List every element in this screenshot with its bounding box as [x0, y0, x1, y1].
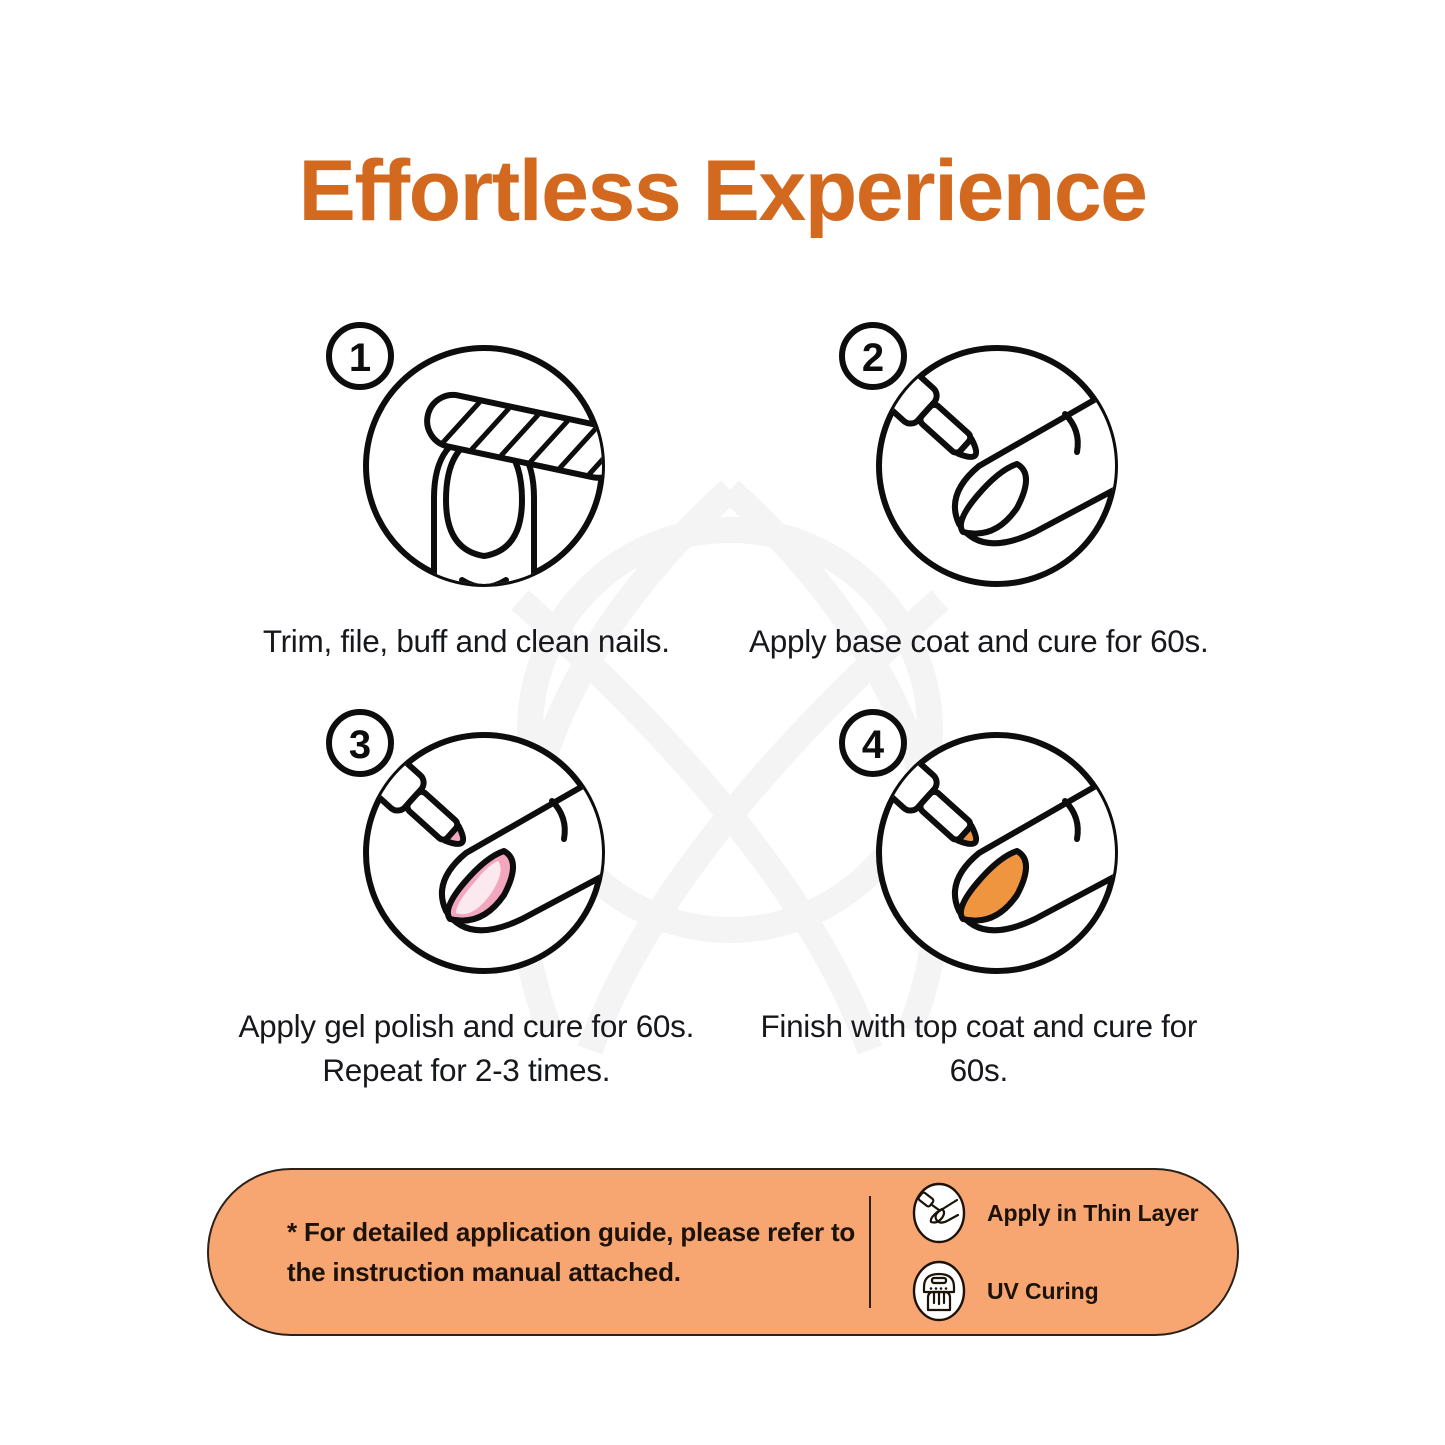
feature-uv-curing-label: UV Curing [987, 1278, 1099, 1305]
step-3: 3 Apply gel polish and cure for 60s. Rep… [215, 705, 718, 1092]
step-4-illustration: 4 [829, 705, 1129, 985]
page-title: Effortless Experience [0, 142, 1445, 241]
step-3-caption: Apply gel polish and cure for 60s. Repea… [236, 1005, 696, 1092]
step-2-number: 2 [862, 336, 884, 380]
step-1: 1 Trim, file, buff and clean nails. [215, 318, 718, 663]
banner-note-text: * For detailed application guide, please… [209, 1212, 869, 1293]
step-3-number: 3 [349, 723, 371, 767]
step-2-illustration: 2 [829, 318, 1129, 598]
feature-thin-layer: Apply in Thin Layer [911, 1181, 1237, 1245]
step-2: 2 Apply base coat and cure for 60s. [728, 318, 1231, 663]
steps-grid: 1 Trim, file, buff and clean nails. [215, 318, 1230, 1092]
step-1-illustration: 1 [316, 318, 616, 598]
step-4: 4 Finish with top coat and cure for 60s. [728, 705, 1231, 1092]
feature-uv-curing: UV Curing [911, 1259, 1237, 1323]
step-4-caption: Finish with top coat and cure for 60s. [749, 1005, 1209, 1092]
uv-lamp-curing-icon [911, 1259, 967, 1323]
thin-layer-brush-icon [911, 1181, 967, 1245]
infographic-page: Effortless Experience [0, 0, 1445, 1445]
step-3-illustration: 3 [316, 705, 616, 985]
feature-thin-layer-label: Apply in Thin Layer [987, 1200, 1199, 1227]
step-2-caption: Apply base coat and cure for 60s. [749, 620, 1209, 663]
step-1-caption: Trim, file, buff and clean nails. [236, 620, 696, 663]
step-1-number: 1 [349, 336, 371, 380]
footer-banner: * For detailed application guide, please… [207, 1168, 1239, 1336]
step-4-number: 4 [862, 723, 885, 767]
banner-features: Apply in Thin Layer UV [871, 1181, 1237, 1323]
